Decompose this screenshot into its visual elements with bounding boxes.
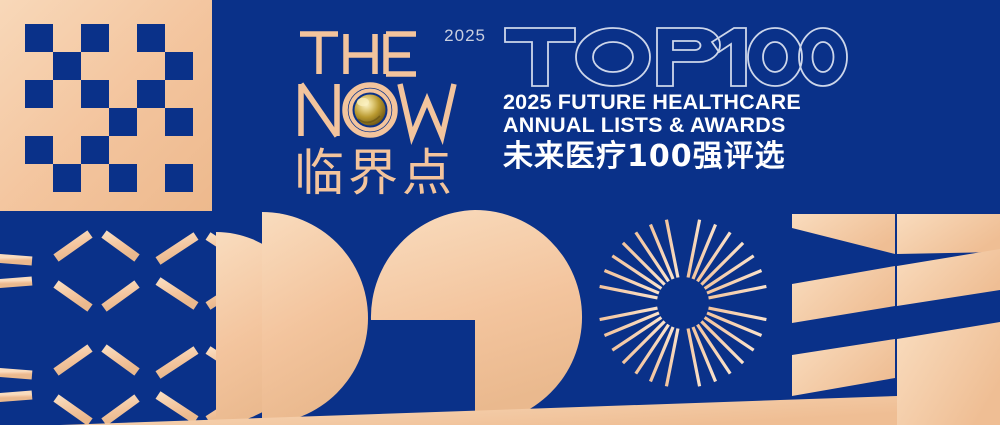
banner-root: 临界点 2025 (0, 0, 1000, 425)
gold-orb (350, 90, 390, 130)
notched-circle (371, 210, 582, 424)
hexagon-lattice-pattern (0, 207, 242, 425)
logo-year: 2025 (444, 26, 486, 46)
chevron-stripe-left-1 (792, 214, 895, 254)
half-circle-large (262, 212, 368, 424)
logo-text-the (300, 34, 416, 74)
chevron-stripe-right-3 (897, 322, 1000, 425)
chevron-stripe-left-3 (792, 339, 895, 396)
chevron-stripes-pattern (792, 213, 1000, 425)
headline-english-line2: ANNUAL LISTS & AWARDS (503, 114, 848, 137)
chevron-stripe-left-2 (792, 266, 895, 323)
chevron-stripe-right-2 (897, 249, 1000, 306)
chevron-stripe-right-1 (897, 213, 1000, 254)
headline-block: 2025 FUTURE HEALTHCARE ANNUAL LISTS & AW… (503, 22, 848, 175)
top100-outline-wordmark (503, 22, 848, 90)
logo-lockup: 临界点 2025 (290, 18, 490, 198)
headline-english-line1: 2025 FUTURE HEALTHCARE (503, 91, 848, 114)
sunburst-pattern (598, 218, 768, 388)
headline-chinese: 未来医疗100强评选 (503, 139, 848, 175)
decoration-layer (0, 0, 1000, 425)
logo-chinese: 临界点 (294, 144, 456, 198)
